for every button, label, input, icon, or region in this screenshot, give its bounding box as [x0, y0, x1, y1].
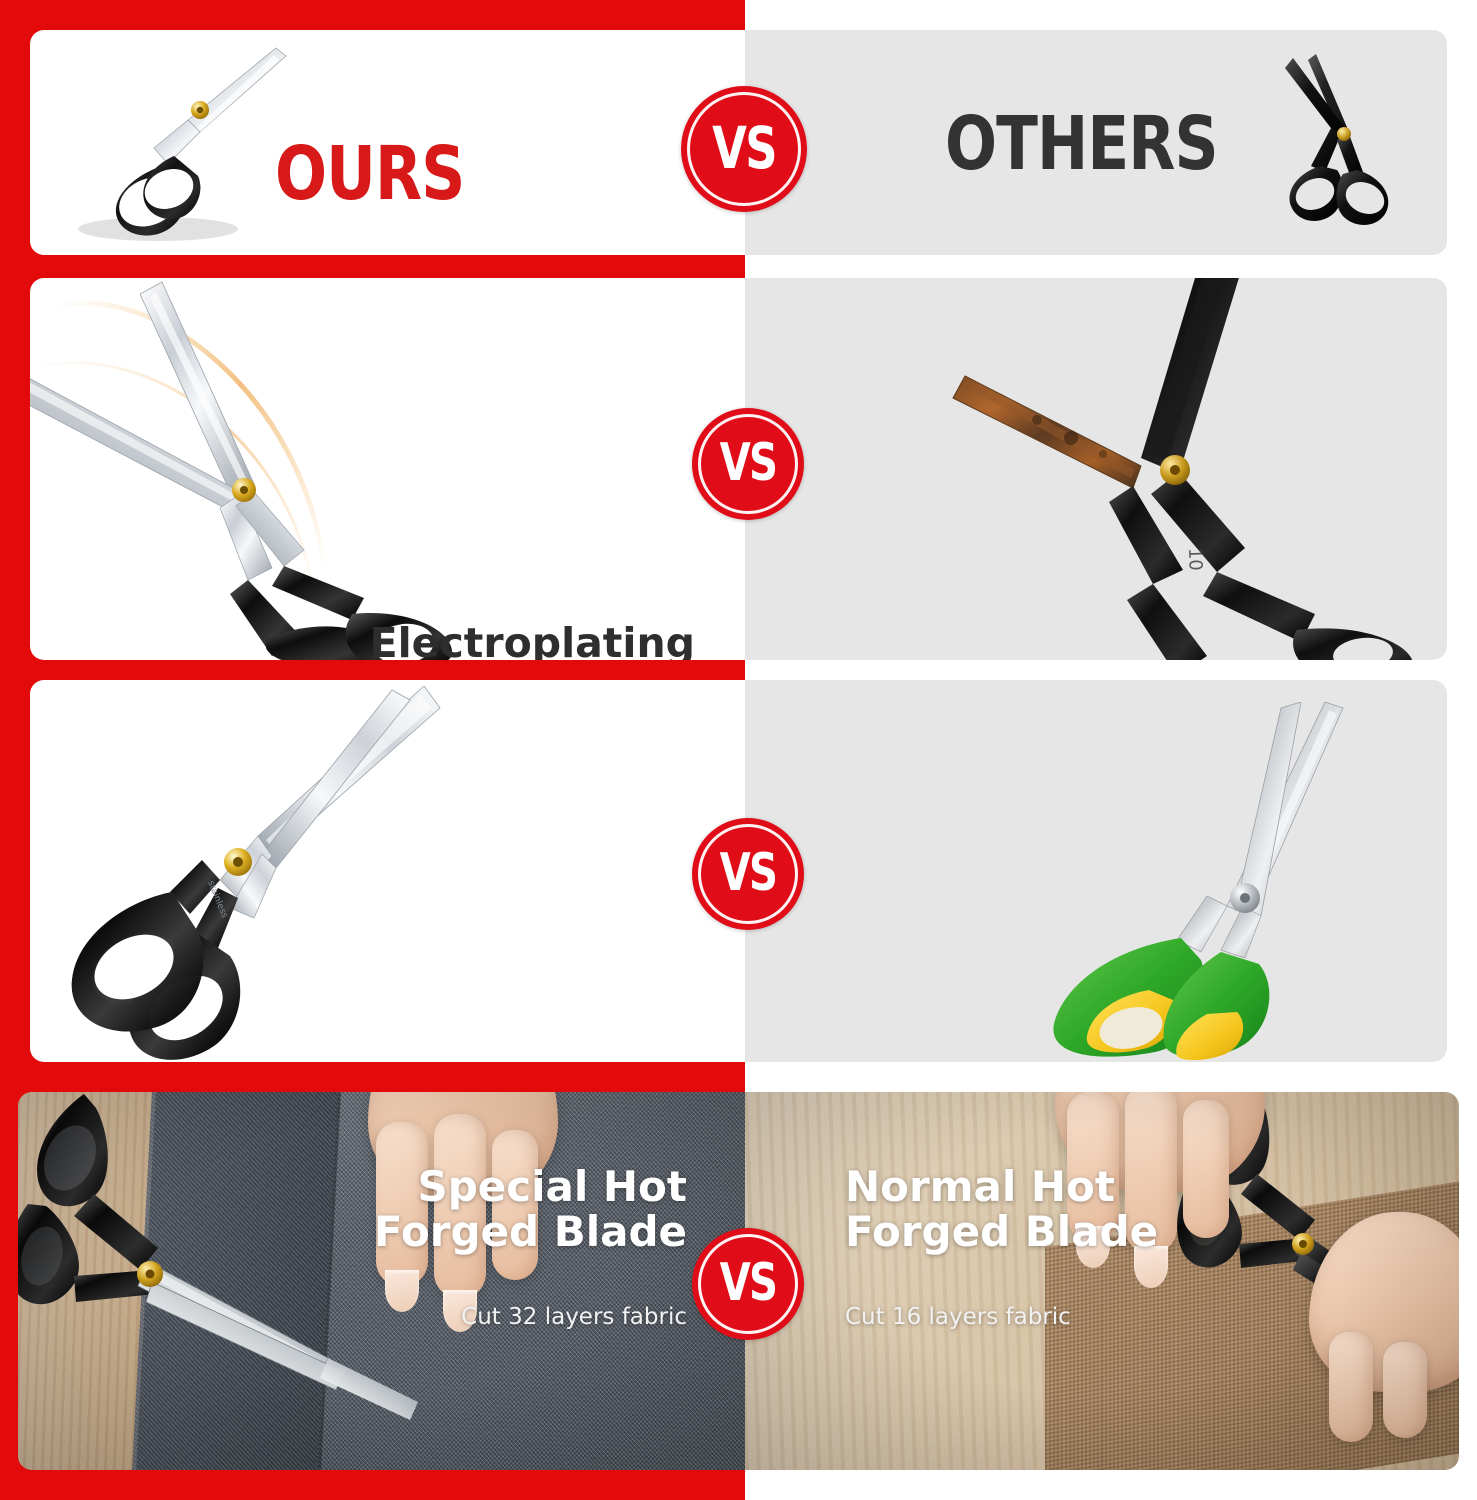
vs-badge-row2: VS — [692, 818, 804, 930]
svg-text:stainless: stainless — [205, 879, 229, 920]
others-header-scissors-image — [1253, 54, 1433, 234]
row3-others-text: Normal Hot Forged Blade Cut 16 layers fa… — [845, 1164, 1285, 1334]
row1-ours-text: Electroplating Blade Anti-rust long last… — [265, 622, 695, 660]
row2-panel-ours: stainless High Carbon Manganese Steel Ha… — [30, 680, 745, 1062]
vs-badge-label: VS — [720, 433, 777, 493]
row3-ours-text: Special Hot Forged Blade Cut 32 layers f… — [267, 1164, 687, 1334]
row3-others-subtext: Cut 16 layers fabric — [845, 1301, 1285, 1334]
ours-header-scissors-image — [48, 44, 298, 249]
vs-badge-row3: VS — [692, 1228, 804, 1340]
row2-panel-others: Normal stainless steel Hardness HRC 54 k… — [745, 680, 1447, 1062]
others-title: OTHERS — [945, 107, 1218, 181]
row1-ours-heading: Electroplating Blade — [265, 622, 695, 660]
row1-others-rusty-scissors-image: 10 — [945, 278, 1447, 660]
row1-panel-others: 10 Black plating Easy to rust and dull — [745, 278, 1447, 660]
row1-ours-scissors-image — [30, 278, 484, 660]
row3-ours-subtext: Cut 32 layers fabric — [267, 1301, 687, 1334]
ours-title: OURS — [275, 137, 464, 211]
vs-badge-row1: VS — [692, 408, 804, 520]
row3-others-heading: Normal Hot Forged Blade — [845, 1164, 1285, 1255]
row2-others-scissors-image — [995, 702, 1447, 1062]
comparison-infographic: OURS — [0, 0, 1477, 1500]
row3-ours-heading: Special Hot Forged Blade — [267, 1164, 687, 1255]
vs-badge-label: VS — [712, 114, 776, 182]
svg-text:10: 10 — [1184, 547, 1206, 571]
vs-badge-label: VS — [720, 843, 777, 903]
header-panel-ours: OURS — [30, 30, 745, 255]
row3-panel-ours: Special Hot Forged Blade Cut 32 layers f… — [18, 1092, 745, 1470]
row3-panel-others: Normal Hot Forged Blade Cut 16 layers fa… — [745, 1092, 1459, 1470]
vs-badge-label: VS — [720, 1253, 777, 1313]
row2-ours-scissors-image: stainless — [30, 686, 442, 1062]
row1-panel-ours: Electroplating Blade Anti-rust long last… — [30, 278, 745, 660]
vs-badge-header: VS — [681, 86, 807, 212]
